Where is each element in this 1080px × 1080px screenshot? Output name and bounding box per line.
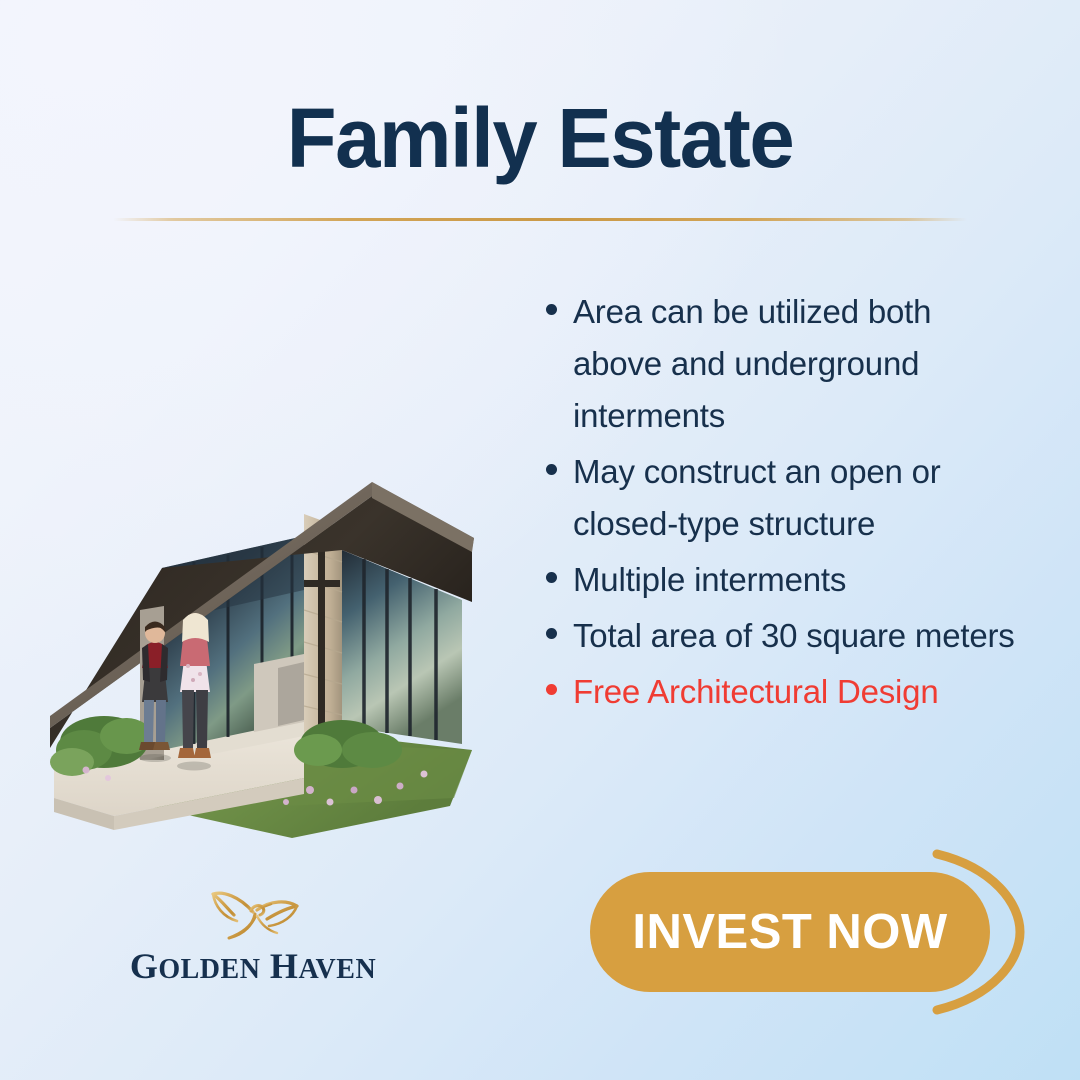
dove-icon — [193, 886, 313, 944]
list-item-highlighted: Free Architectural Design — [540, 666, 1020, 718]
brand-wordmark: GOLDEN HAVEN — [108, 946, 398, 990]
feature-list: Area can be utilized both above and unde… — [540, 286, 1020, 722]
feature-text: Free Architectural Design — [573, 666, 1020, 718]
wordmark-h: H — [270, 946, 299, 986]
cta-container: INVEST NOW — [570, 842, 1030, 1022]
feature-text: Multiple interments — [573, 554, 1020, 606]
wordmark-g: G — [130, 946, 159, 986]
feature-text: May construct an open or closed-type str… — [573, 446, 1020, 550]
bullet-icon — [546, 684, 557, 695]
invest-now-button[interactable]: INVEST NOW — [590, 872, 990, 992]
bullet-icon — [546, 304, 557, 315]
bullet-icon — [546, 628, 557, 639]
wordmark-aven: AVEN — [298, 954, 376, 985]
wordmark-olden: OLDEN — [158, 954, 260, 985]
bullet-icon — [546, 464, 557, 475]
list-item: Multiple interments — [540, 554, 1020, 606]
feature-text: Total area of 30 square meters — [573, 610, 1020, 662]
feature-text: Area can be utilized both above and unde… — [573, 286, 1020, 442]
bullet-icon — [546, 572, 557, 583]
page-title: Family Estate — [16, 96, 1064, 180]
list-item: Area can be utilized both above and unde… — [540, 286, 1020, 442]
gold-divider — [113, 218, 967, 221]
list-item: Total area of 30 square meters — [540, 610, 1020, 662]
title-block: Family Estate — [0, 96, 1080, 180]
family-estate-chapel-render — [42, 250, 492, 850]
list-item: May construct an open or closed-type str… — [540, 446, 1020, 550]
brand-logo: GOLDEN HAVEN — [108, 886, 398, 990]
family-estate-poster: Family Estate — [0, 0, 1080, 1080]
